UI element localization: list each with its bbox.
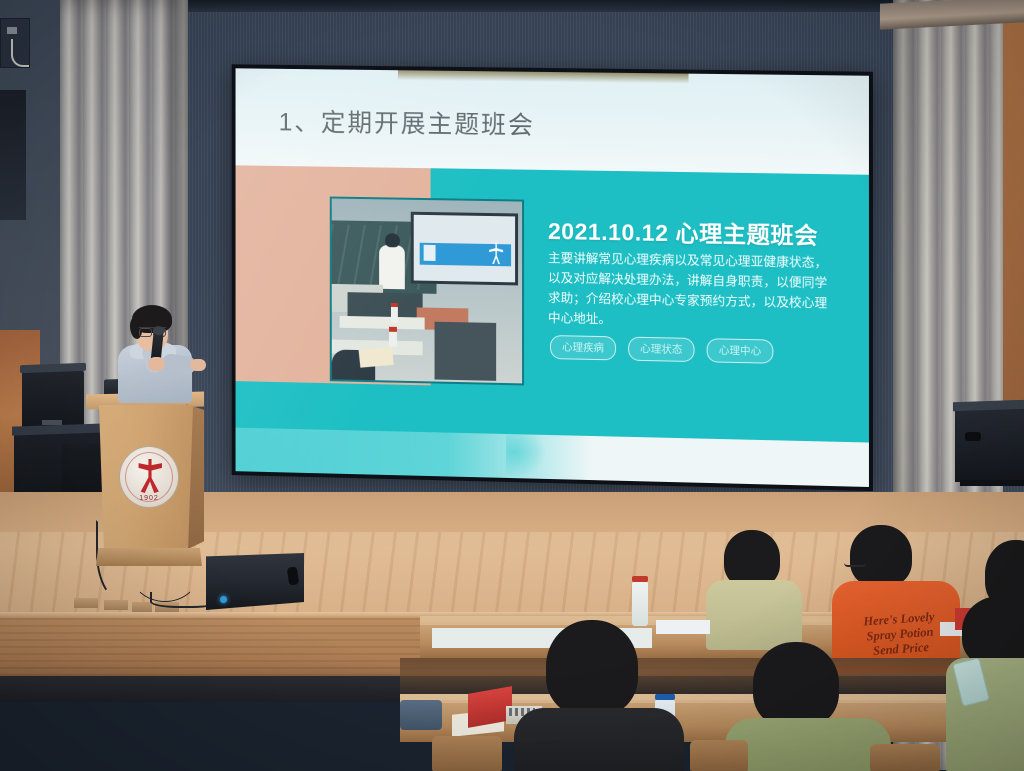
photo-table-1 — [340, 316, 425, 330]
podium-base — [96, 548, 202, 566]
stage-floor-box-3 — [132, 602, 152, 612]
university-crest-icon: 1902 — [119, 446, 179, 508]
pa-speaker-right-handle — [965, 432, 981, 441]
slide-brush-stroke — [236, 428, 592, 480]
audience-person-5-head — [753, 642, 839, 728]
audience-person-1-shirt — [706, 580, 802, 650]
wall-mounted-speaker — [0, 90, 26, 220]
photo-bottle-1 — [391, 303, 398, 323]
audience-person-4 — [520, 620, 670, 771]
pa-speaker-right — [955, 408, 1024, 482]
pa-speaker-top-cap — [20, 363, 86, 373]
photo-projection-screen — [411, 212, 518, 286]
stage-floor-box-1 — [74, 598, 98, 608]
slide-teal-left-fill — [236, 381, 431, 432]
slide-tag-3: 心理中心 — [707, 338, 774, 364]
wall-junction-box — [0, 18, 30, 68]
stage-monitor-handle — [287, 566, 299, 585]
projection-screen: 1、定期开展主题班会 — [232, 64, 873, 491]
stage-monitor-speaker — [206, 553, 304, 610]
photo-paper — [359, 347, 394, 368]
slide-tag-2: 心理状态 — [628, 337, 694, 362]
wall-box-latch — [7, 27, 17, 34]
presenter — [112, 303, 208, 399]
audience-person-5-shirt — [725, 718, 891, 771]
slide-tag-1: 心理疾病 — [550, 335, 616, 360]
slide-header-title: 1、定期开展主题班会 — [279, 103, 535, 142]
stage-monitor-led — [220, 596, 227, 603]
audience-person-5 — [735, 642, 875, 771]
slide-title: 2021.10.12 心理主题班会 — [548, 212, 851, 251]
audience-person-2-glasses-icon — [844, 561, 866, 567]
audience-person-1 — [706, 530, 798, 640]
screen-bezel: 1、定期开展主题班会 — [236, 68, 869, 487]
audience-person-4-head — [546, 620, 638, 716]
pa-speaker-right-base — [960, 480, 1024, 486]
slide-tag-row: 心理疾病 心理状态 心理中心 — [550, 335, 773, 364]
photo-teacher — [379, 245, 405, 289]
photo-bottle-2 — [389, 327, 397, 347]
seat-blue-1 — [400, 700, 442, 730]
presenter-left-hand — [148, 357, 165, 371]
wall-box-cable — [11, 39, 29, 67]
audience-person-2-head — [850, 525, 912, 587]
seat-back-3 — [870, 744, 940, 771]
presentation-slide: 1、定期开展主题班会 — [236, 68, 869, 487]
audience-person-4-shirt — [514, 708, 684, 771]
slide-body-text: 主要讲解常见心理疾病以及常见心理亚健康状态，以及对应解决处理办法，讲解自身职责，… — [548, 248, 828, 334]
pa-subwoofer-cap — [12, 423, 106, 435]
crest-year: 1902 — [120, 495, 178, 502]
seat-back-2 — [690, 740, 748, 771]
stage-floor-box-2 — [104, 600, 128, 610]
presenter-right-hand — [190, 359, 206, 371]
seat-back-1 — [432, 736, 502, 771]
pa-speaker-top-left — [22, 370, 84, 432]
pa-speaker-right-cap — [953, 400, 1024, 412]
photo-table-3 — [435, 322, 497, 381]
photo-screen-icon-left — [424, 245, 436, 261]
auditorium-scene: 1、定期开展主题班会 — [0, 0, 1024, 771]
slide-classroom-photo — [330, 197, 524, 386]
water-bottle-1-cap — [632, 576, 648, 582]
